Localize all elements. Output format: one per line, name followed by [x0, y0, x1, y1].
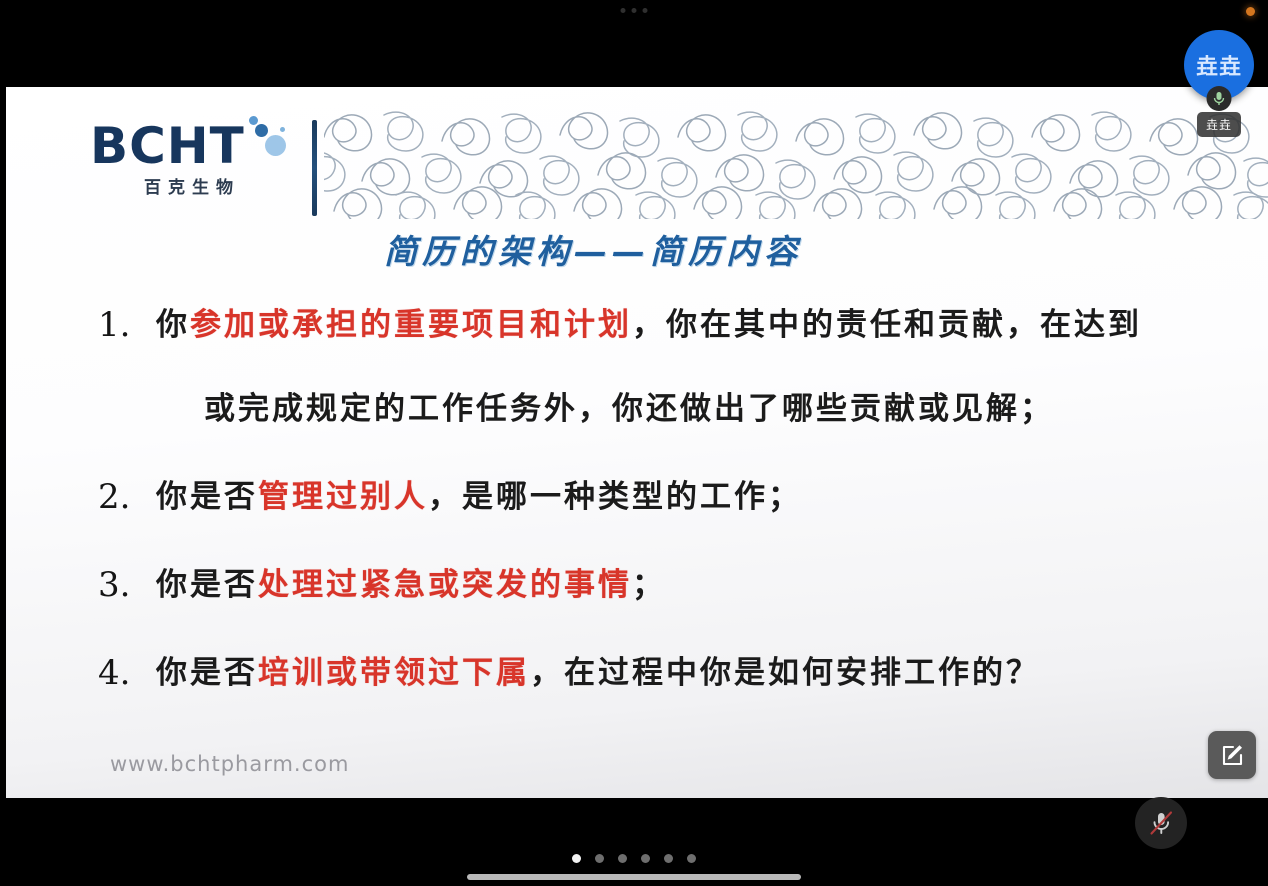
highlighted-text: 管理过别人 — [258, 479, 428, 515]
presentation-slide[interactable]: BCHT 百克生物 — [6, 87, 1268, 798]
list-item-number: 1. — [6, 283, 156, 367]
page-dot[interactable] — [595, 854, 604, 863]
list-item: 3.你是否处理过紧急或突发的事情； — [6, 543, 1268, 627]
plain-text: 或完成规定的工作任务外，你还做出了哪些贡献或见解； — [204, 391, 1054, 427]
plain-text: ，是哪一种类型的工作； — [428, 479, 802, 515]
plain-text: 你是否 — [156, 655, 258, 691]
highlighted-text: 参加或承担的重要项目和计划 — [190, 307, 632, 343]
brand-bubbles-icon — [232, 111, 288, 167]
drag-handle-dots[interactable] — [621, 8, 648, 13]
participant-overlay[interactable]: 垚垚 垚垚 — [1184, 30, 1254, 100]
handle-dot — [643, 8, 648, 13]
page-indicator[interactable] — [572, 854, 696, 863]
slide-title: 简历的架构——简历内容 — [384, 225, 802, 273]
brand-logo: BCHT 百克生物 — [90, 115, 290, 203]
list-item: 2.你是否管理过别人，是哪一种类型的工作； — [6, 455, 1268, 539]
list-item: 1.你参加或承担的重要项目和计划，你在其中的责任和贡献，在达到或完成规定的工作任… — [6, 283, 1268, 451]
list-item-line: 你是否处理过紧急或突发的事情； — [156, 543, 1228, 627]
list-item-body: 你是否培训或带领过下属，在过程中你是如何安排工作的？ — [156, 631, 1268, 715]
slide-header: BCHT 百克生物 — [6, 87, 1268, 217]
list-item-body: 你参加或承担的重要项目和计划，你在其中的责任和贡献，在达到或完成规定的工作任务外… — [156, 283, 1268, 451]
mute-button[interactable] — [1135, 797, 1187, 849]
annotate-button[interactable] — [1208, 731, 1256, 779]
list-item-number: 4. — [6, 631, 156, 715]
list-item-line: 你参加或承担的重要项目和计划，你在其中的责任和贡献，在达到 — [156, 283, 1228, 367]
list-item-number: 2. — [6, 455, 156, 539]
page-dot[interactable] — [664, 854, 673, 863]
header-divider — [312, 120, 317, 216]
status-bar — [0, 0, 1268, 28]
handle-dot — [621, 8, 626, 13]
recording-indicator-icon — [1246, 7, 1255, 16]
slide-footer-url: www.bchtpharm.com — [110, 752, 349, 776]
list-item-line: 你是否培训或带领过下属，在过程中你是如何安排工作的？ — [156, 631, 1228, 715]
highlighted-text: 处理过紧急或突发的事情 — [258, 567, 632, 603]
header-doodle-pattern — [324, 107, 1268, 219]
plain-text: ； — [632, 567, 666, 603]
list-item-line: 你是否管理过别人，是哪一种类型的工作； — [156, 455, 1228, 539]
microphone-icon — [1207, 86, 1232, 111]
brand-wordmark: BCHT — [90, 121, 245, 171]
plain-text: ，你在其中的责任和贡献，在达到 — [632, 307, 1142, 343]
participant-name-chip: 垚垚 — [1197, 112, 1241, 137]
microphone-muted-icon — [1146, 808, 1176, 838]
list-item-number: 3. — [6, 543, 156, 627]
plain-text: 你 — [156, 307, 190, 343]
plain-text: 你是否 — [156, 567, 258, 603]
list-item-body: 你是否管理过别人，是哪一种类型的工作； — [156, 455, 1268, 539]
handle-dot — [632, 8, 637, 13]
device-screen: BCHT 百克生物 — [0, 0, 1268, 886]
brand-chinese-name: 百克生物 — [144, 173, 240, 198]
page-dot[interactable] — [641, 854, 650, 863]
page-dot[interactable] — [618, 854, 627, 863]
list-item-line: 或完成规定的工作任务外，你还做出了哪些贡献或见解； — [156, 367, 1228, 451]
page-dot[interactable] — [572, 854, 581, 863]
list-item-body: 你是否处理过紧急或突发的事情； — [156, 543, 1268, 627]
plain-text: 你是否 — [156, 479, 258, 515]
slide-body-list: 1.你参加或承担的重要项目和计划，你在其中的责任和贡献，在达到或完成规定的工作任… — [6, 283, 1268, 719]
highlighted-text: 培训或带领过下属 — [258, 655, 530, 691]
pencil-square-icon — [1219, 742, 1245, 768]
list-item: 4.你是否培训或带领过下属，在过程中你是如何安排工作的？ — [6, 631, 1268, 715]
page-dot[interactable] — [687, 854, 696, 863]
home-indicator — [467, 874, 801, 880]
plain-text: ，在过程中你是如何安排工作的？ — [530, 655, 1040, 691]
